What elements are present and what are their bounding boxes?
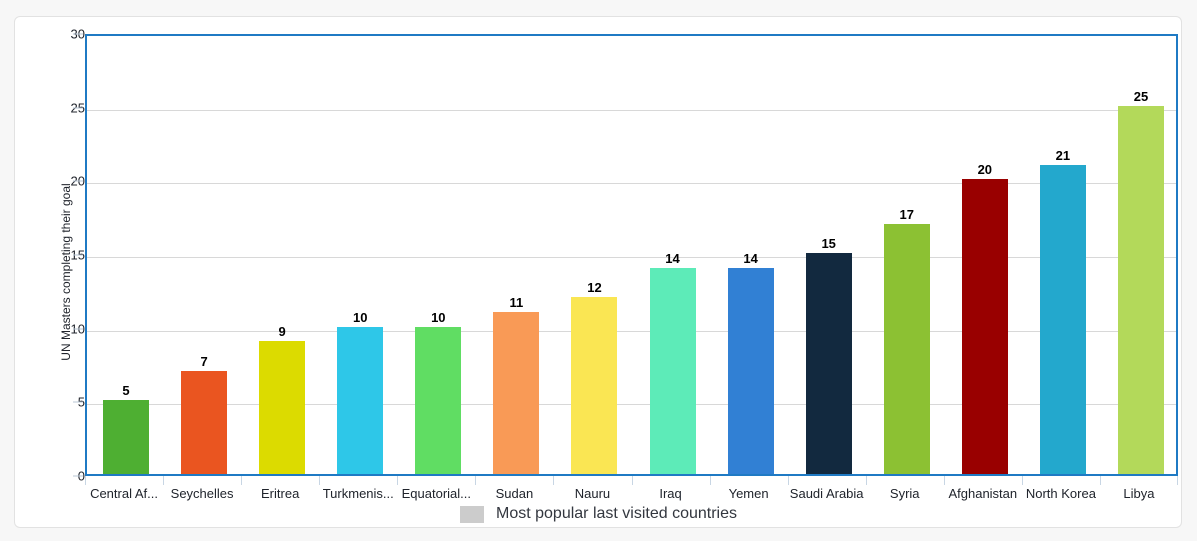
y-tick-mark xyxy=(73,34,83,35)
plot-area: 5791010111214141517202125 xyxy=(85,34,1178,476)
x-tick-mark xyxy=(553,476,554,485)
y-tick-mark xyxy=(73,476,83,477)
y-axis: 051015202530 xyxy=(29,34,85,476)
x-tick-mark xyxy=(866,476,867,485)
y-tick-mark xyxy=(73,181,83,182)
x-tick-mark xyxy=(163,476,164,485)
bar-value-label: 10 xyxy=(330,310,390,325)
chart-card: UN Masters completing their goal 0510152… xyxy=(14,16,1182,528)
bar-value-label: 14 xyxy=(721,251,781,266)
bar[interactable] xyxy=(181,371,227,474)
x-tick-mark xyxy=(397,476,398,485)
x-tick-mark xyxy=(1022,476,1023,485)
chart-legend[interactable]: Most popular last visited countries xyxy=(0,498,1197,530)
bar-value-label: 25 xyxy=(1111,89,1171,104)
bar[interactable] xyxy=(1040,165,1086,474)
legend-swatch-icon xyxy=(460,506,484,523)
y-tick-mark xyxy=(73,255,83,256)
bar-value-label: 10 xyxy=(408,310,468,325)
x-tick-mark xyxy=(1100,476,1101,485)
bar-value-label: 5 xyxy=(96,383,156,398)
bar-value-label: 17 xyxy=(877,207,937,222)
x-tick-mark xyxy=(1177,476,1178,485)
chart-page: UN Masters completing their goal 0510152… xyxy=(0,0,1197,541)
bar-value-label: 12 xyxy=(564,280,624,295)
y-tick-mark xyxy=(73,328,83,329)
bar-value-label: 15 xyxy=(799,236,859,251)
bar-value-label: 21 xyxy=(1033,148,1093,163)
bar[interactable] xyxy=(571,297,617,474)
x-tick-mark xyxy=(944,476,945,485)
x-tick-mark xyxy=(710,476,711,485)
bar[interactable] xyxy=(103,400,149,474)
bar-value-label: 14 xyxy=(643,251,703,266)
bar[interactable] xyxy=(259,341,305,474)
bar-value-label: 11 xyxy=(486,295,546,310)
bar[interactable] xyxy=(962,179,1008,474)
bar-value-label: 20 xyxy=(955,162,1015,177)
bar[interactable] xyxy=(493,312,539,474)
bar-value-label: 7 xyxy=(174,354,234,369)
bar[interactable] xyxy=(415,327,461,474)
bar[interactable] xyxy=(1118,106,1164,474)
bar-value-label: 9 xyxy=(252,324,312,339)
bar[interactable] xyxy=(884,224,930,474)
x-tick-mark xyxy=(788,476,789,485)
y-tick-mark xyxy=(73,402,83,403)
x-tick-mark xyxy=(319,476,320,485)
x-tick-mark xyxy=(85,476,86,485)
bar[interactable] xyxy=(650,268,696,474)
bars-layer: 5791010111214141517202125 xyxy=(87,36,1176,474)
x-tick-mark xyxy=(241,476,242,485)
x-tick-mark xyxy=(475,476,476,485)
bar[interactable] xyxy=(806,253,852,474)
legend-label: Most popular last visited countries xyxy=(496,505,737,523)
bar[interactable] xyxy=(728,268,774,474)
bar[interactable] xyxy=(337,327,383,474)
y-tick-mark xyxy=(73,107,83,108)
x-tick-mark xyxy=(632,476,633,485)
